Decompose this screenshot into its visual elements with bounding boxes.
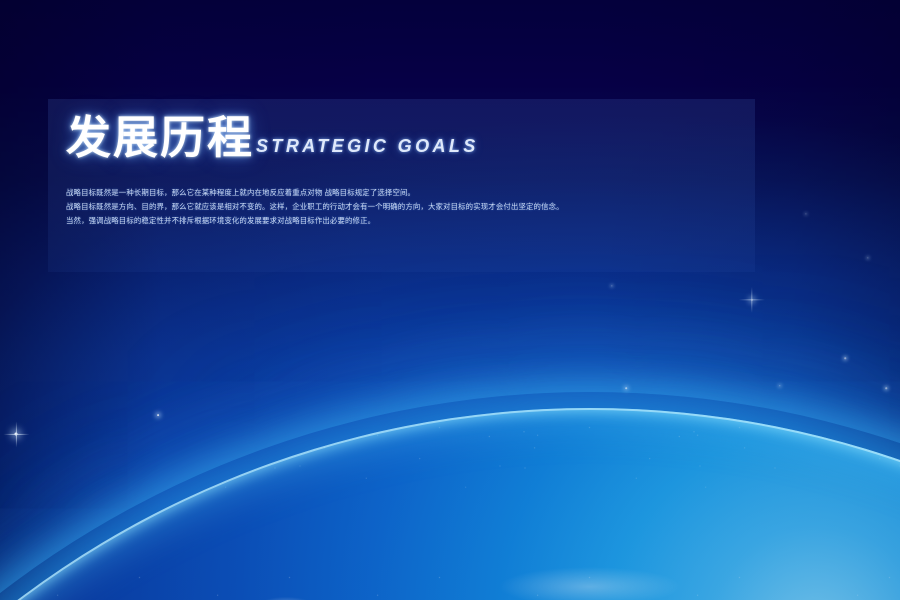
banner-stage: 发展历程 STRATEGIC GOALS 战略目标既然是一种长期目标，那么它在某… (0, 0, 900, 600)
star-right-high-icon (751, 299, 753, 301)
headline-english: STRATEGIC GOALS (256, 137, 479, 155)
star-mid-high-icon (611, 285, 612, 286)
body-line: 战略目标既然是一种长期目标，那么它在某种程度上就内在地反应着重点对物 战略目标规… (66, 186, 742, 200)
page-title: 发展历程 STRATEGIC GOALS (66, 116, 479, 161)
star-small-upper-icon (157, 414, 159, 416)
body-copy: 战略目标既然是一种长期目标，那么它在某种程度上就内在地反应着重点对物 战略目标规… (66, 186, 742, 228)
headline-chinese: 发展历程 (66, 116, 254, 161)
star-far-right-icon (885, 387, 887, 389)
starfield (0, 0, 900, 600)
body-line: 当然，强调战略目标的稳定性并不排斥根据环境变化的发展要求对战略目标作出必要的修正… (66, 214, 742, 228)
star-right-low-icon (779, 385, 780, 386)
star-bright-left-icon (15, 433, 18, 436)
star-left-low-icon (625, 387, 627, 389)
star-top-right-icon (805, 213, 806, 214)
star-upper-right-icon (867, 257, 868, 258)
star-right-mid-icon (844, 357, 846, 359)
body-line: 战略目标既然是方向、目的界，那么它就应该是相对不变的。这样，企业职工的行动才会有… (66, 200, 742, 214)
